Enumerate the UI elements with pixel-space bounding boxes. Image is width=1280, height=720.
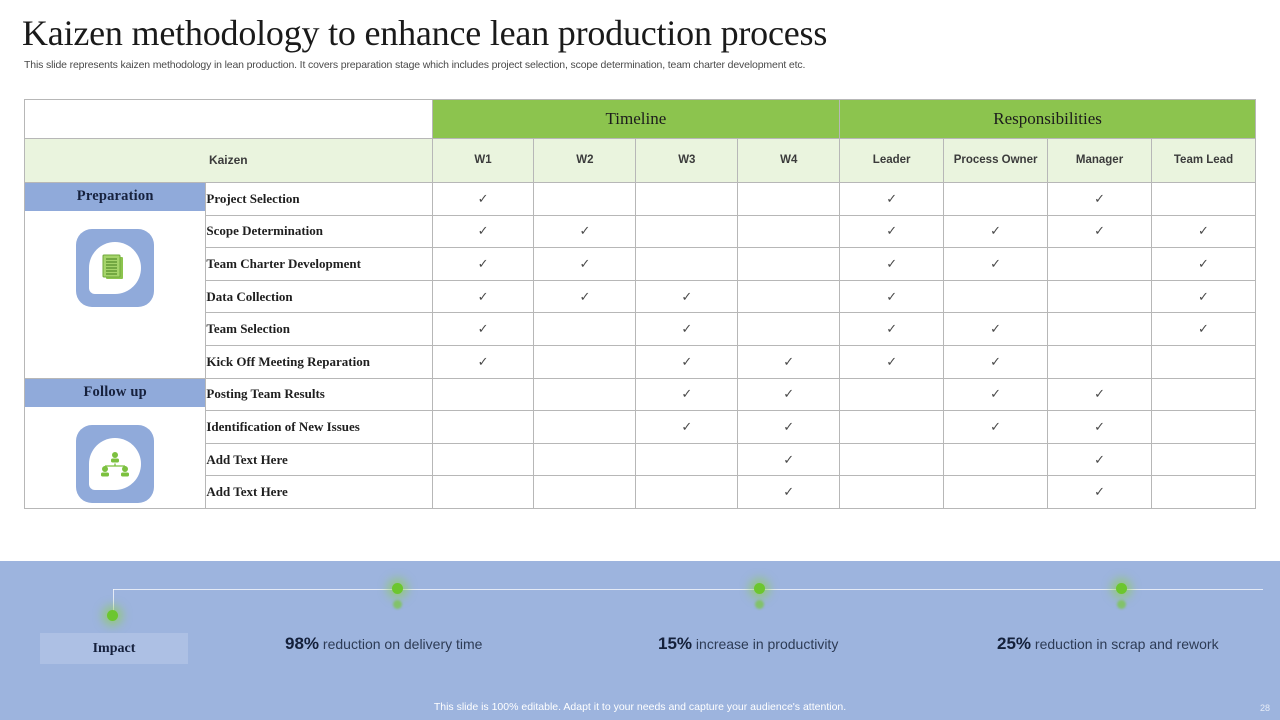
timeline-node-1 bbox=[392, 583, 403, 594]
check-icon: ✓ bbox=[783, 354, 794, 369]
check-icon: ✓ bbox=[886, 223, 897, 238]
column-header-row: Kaizen W1 W2 W3 W4 Leader Process Owner … bbox=[25, 139, 1256, 183]
timeline-node-1-tail bbox=[393, 600, 402, 609]
bubble-shape-1 bbox=[89, 438, 141, 490]
check-cell-marked[interactable]: ✓ bbox=[738, 476, 840, 509]
check-cell-marked[interactable]: ✓ bbox=[636, 411, 738, 444]
table-row: Add Text Here✓✓ bbox=[25, 443, 1256, 476]
check-cell-empty[interactable] bbox=[534, 411, 636, 444]
check-icon: ✓ bbox=[990, 223, 1001, 238]
task-label: Data Collection bbox=[206, 280, 432, 313]
table-body: PreparationProject Selection✓✓✓Scope Det… bbox=[25, 183, 1256, 509]
check-cell-marked[interactable]: ✓ bbox=[944, 378, 1048, 411]
check-cell-marked[interactable]: ✓ bbox=[1152, 248, 1256, 281]
check-cell-empty[interactable] bbox=[534, 378, 636, 411]
page-number: 28 bbox=[1260, 703, 1270, 713]
column-header-kaizen: Kaizen bbox=[25, 139, 433, 183]
check-cell-marked[interactable]: ✓ bbox=[738, 345, 840, 378]
check-cell-marked[interactable]: ✓ bbox=[944, 313, 1048, 346]
check-cell-empty[interactable] bbox=[636, 476, 738, 509]
stage-icon-slot-0 bbox=[25, 211, 205, 307]
timeline-node-impact bbox=[107, 610, 118, 621]
check-cell-marked[interactable]: ✓ bbox=[944, 411, 1048, 444]
column-header-process-owner: Process Owner bbox=[944, 139, 1048, 183]
check-cell-marked[interactable]: ✓ bbox=[534, 280, 636, 313]
check-cell-marked[interactable]: ✓ bbox=[1048, 378, 1152, 411]
task-label: Scope Determination bbox=[206, 215, 432, 248]
check-cell-marked[interactable]: ✓ bbox=[944, 248, 1048, 281]
check-cell-marked[interactable]: ✓ bbox=[1048, 443, 1152, 476]
check-icon: ✓ bbox=[681, 419, 692, 434]
check-cell-marked[interactable]: ✓ bbox=[1152, 313, 1256, 346]
check-cell-empty[interactable] bbox=[944, 280, 1048, 313]
check-cell-empty[interactable] bbox=[738, 248, 840, 281]
task-label: Project Selection bbox=[206, 183, 432, 216]
column-header-leader: Leader bbox=[840, 139, 944, 183]
check-cell-marked[interactable]: ✓ bbox=[1048, 476, 1152, 509]
check-cell-empty[interactable] bbox=[534, 313, 636, 346]
impact-label-badge: Impact bbox=[40, 633, 188, 664]
check-cell-marked[interactable]: ✓ bbox=[1048, 183, 1152, 216]
timeline-node-2 bbox=[754, 583, 765, 594]
column-header-w1: W1 bbox=[432, 139, 534, 183]
check-icon: ✓ bbox=[1198, 289, 1209, 304]
table-row: Identification of New Issues✓✓✓✓ bbox=[25, 411, 1256, 444]
check-icon: ✓ bbox=[886, 191, 897, 206]
impact-stat-2: 15% increase in productivity bbox=[658, 634, 838, 654]
check-icon: ✓ bbox=[990, 256, 1001, 271]
table-row: Data Collection✓✓✓✓✓ bbox=[25, 280, 1256, 313]
check-icon: ✓ bbox=[783, 452, 794, 467]
impact-stat-3-value: 25% bbox=[997, 634, 1031, 653]
check-cell-empty[interactable] bbox=[534, 345, 636, 378]
check-icon: ✓ bbox=[1094, 484, 1105, 499]
check-cell-marked[interactable]: ✓ bbox=[1048, 215, 1152, 248]
check-cell-empty[interactable] bbox=[944, 443, 1048, 476]
check-icon: ✓ bbox=[1094, 223, 1105, 238]
check-cell-marked[interactable]: ✓ bbox=[840, 248, 944, 281]
check-cell-marked[interactable]: ✓ bbox=[944, 345, 1048, 378]
check-cell-empty[interactable] bbox=[1152, 476, 1256, 509]
check-cell-empty[interactable] bbox=[1152, 443, 1256, 476]
check-icon: ✓ bbox=[886, 256, 897, 271]
stage-label-0: Preparation bbox=[25, 183, 205, 211]
check-cell-empty[interactable] bbox=[944, 476, 1048, 509]
slide-root: Kaizen methodology to enhance lean produ… bbox=[0, 0, 1280, 720]
check-cell-empty[interactable] bbox=[636, 248, 738, 281]
timeline-node-3-tail bbox=[1117, 600, 1126, 609]
check-icon: ✓ bbox=[478, 191, 489, 206]
check-cell-empty[interactable] bbox=[1152, 183, 1256, 216]
page-subtitle: This slide represents kaizen methodology… bbox=[24, 59, 805, 71]
task-label: Identification of New Issues bbox=[206, 411, 432, 444]
column-header-manager: Manager bbox=[1048, 139, 1152, 183]
column-header-w3: W3 bbox=[636, 139, 738, 183]
impact-stat-3: 25% reduction in scrap and rework bbox=[997, 634, 1219, 654]
check-cell-marked[interactable]: ✓ bbox=[636, 313, 738, 346]
check-cell-marked[interactable]: ✓ bbox=[840, 280, 944, 313]
check-cell-marked[interactable]: ✓ bbox=[432, 345, 534, 378]
group-header-row: Timeline Responsibilities bbox=[25, 100, 1256, 139]
check-icon: ✓ bbox=[1198, 223, 1209, 238]
check-icon: ✓ bbox=[886, 321, 897, 336]
check-cell-marked[interactable]: ✓ bbox=[840, 313, 944, 346]
task-label: Team Charter Development bbox=[206, 248, 432, 281]
footer-note: This slide is 100% editable. Adapt it to… bbox=[0, 701, 1280, 713]
table-row: PreparationProject Selection✓✓✓ bbox=[25, 183, 1256, 216]
check-icon: ✓ bbox=[478, 321, 489, 336]
check-cell-marked[interactable]: ✓ bbox=[432, 280, 534, 313]
check-cell-empty[interactable] bbox=[432, 378, 534, 411]
check-cell-empty[interactable] bbox=[534, 443, 636, 476]
task-label: Team Selection bbox=[206, 313, 432, 346]
check-cell-empty[interactable] bbox=[432, 443, 534, 476]
check-cell-marked[interactable]: ✓ bbox=[534, 215, 636, 248]
check-cell-marked[interactable]: ✓ bbox=[738, 378, 840, 411]
table-row: Team Charter Development✓✓✓✓✓ bbox=[25, 248, 1256, 281]
check-icon: ✓ bbox=[783, 386, 794, 401]
check-cell-marked[interactable]: ✓ bbox=[636, 378, 738, 411]
check-cell-empty[interactable] bbox=[1048, 313, 1152, 346]
check-icon: ✓ bbox=[783, 419, 794, 434]
check-cell-marked[interactable]: ✓ bbox=[738, 443, 840, 476]
check-cell-empty[interactable] bbox=[1152, 411, 1256, 444]
check-cell-empty[interactable] bbox=[840, 411, 944, 444]
check-cell-marked[interactable]: ✓ bbox=[1152, 215, 1256, 248]
group-header-timeline: Timeline bbox=[432, 100, 840, 139]
check-cell-marked[interactable]: ✓ bbox=[738, 411, 840, 444]
check-icon: ✓ bbox=[478, 223, 489, 238]
group-header-spacer bbox=[25, 100, 433, 139]
impact-stat-3-text: reduction in scrap and rework bbox=[1031, 636, 1219, 652]
check-cell-empty[interactable] bbox=[636, 215, 738, 248]
check-icon: ✓ bbox=[1094, 419, 1105, 434]
check-cell-empty[interactable] bbox=[1048, 345, 1152, 378]
impact-stat-1-text: reduction on delivery time bbox=[319, 636, 482, 652]
check-cell-empty[interactable] bbox=[1152, 378, 1256, 411]
check-cell-empty[interactable] bbox=[738, 280, 840, 313]
check-cell-marked[interactable]: ✓ bbox=[1048, 411, 1152, 444]
check-icon: ✓ bbox=[886, 289, 897, 304]
check-icon: ✓ bbox=[1094, 452, 1105, 467]
kaizen-table: Timeline Responsibilities Kaizen W1 W2 W… bbox=[24, 99, 1256, 509]
page-title: Kaizen methodology to enhance lean produ… bbox=[22, 12, 827, 54]
check-cell-marked[interactable]: ✓ bbox=[840, 345, 944, 378]
check-cell-marked[interactable]: ✓ bbox=[1152, 280, 1256, 313]
check-cell-marked[interactable]: ✓ bbox=[840, 215, 944, 248]
check-icon: ✓ bbox=[681, 386, 692, 401]
document-bubble-icon bbox=[76, 229, 154, 307]
check-icon: ✓ bbox=[681, 354, 692, 369]
team-hierarchy-bubble-icon bbox=[76, 425, 154, 503]
stage-cell-follow-up: Follow up bbox=[25, 378, 206, 508]
impact-stat-2-text: increase in productivity bbox=[692, 636, 838, 652]
check-cell-empty[interactable] bbox=[840, 476, 944, 509]
timeline-node-3 bbox=[1116, 583, 1127, 594]
bubble-shape-0 bbox=[89, 242, 141, 294]
task-label: Kick Off Meeting Reparation bbox=[206, 345, 432, 378]
check-icon: ✓ bbox=[886, 354, 897, 369]
task-label: Add Text Here bbox=[206, 476, 432, 509]
check-icon: ✓ bbox=[478, 354, 489, 369]
check-icon: ✓ bbox=[681, 321, 692, 336]
timeline-node-2-tail bbox=[755, 600, 764, 609]
check-icon: ✓ bbox=[1094, 386, 1105, 401]
check-cell-empty[interactable] bbox=[944, 183, 1048, 216]
table-row: Follow upPosting Team Results✓✓✓✓ bbox=[25, 378, 1256, 411]
check-cell-empty[interactable] bbox=[432, 476, 534, 509]
check-icon: ✓ bbox=[990, 354, 1001, 369]
check-cell-marked[interactable]: ✓ bbox=[432, 313, 534, 346]
check-cell-empty[interactable] bbox=[840, 378, 944, 411]
check-cell-marked[interactable]: ✓ bbox=[636, 345, 738, 378]
check-icon: ✓ bbox=[1198, 256, 1209, 271]
check-icon: ✓ bbox=[1198, 321, 1209, 336]
check-icon: ✓ bbox=[579, 223, 590, 238]
check-icon: ✓ bbox=[783, 484, 794, 499]
column-header-w2: W2 bbox=[534, 139, 636, 183]
task-label: Add Text Here bbox=[206, 443, 432, 476]
group-header-responsibilities: Responsibilities bbox=[840, 100, 1256, 139]
table-head: Timeline Responsibilities Kaizen W1 W2 W… bbox=[25, 100, 1256, 183]
check-cell-marked[interactable]: ✓ bbox=[840, 183, 944, 216]
check-cell-empty[interactable] bbox=[738, 183, 840, 216]
check-icon: ✓ bbox=[579, 289, 590, 304]
check-cell-marked[interactable]: ✓ bbox=[432, 215, 534, 248]
check-cell-empty[interactable] bbox=[534, 476, 636, 509]
check-icon: ✓ bbox=[579, 256, 590, 271]
check-cell-empty[interactable] bbox=[738, 215, 840, 248]
check-icon: ✓ bbox=[478, 289, 489, 304]
impact-stat-1-value: 98% bbox=[285, 634, 319, 653]
table-row: Add Text Here✓✓ bbox=[25, 476, 1256, 509]
task-label: Posting Team Results bbox=[206, 378, 432, 411]
stage-cell-preparation: Preparation bbox=[25, 183, 206, 379]
check-cell-empty[interactable] bbox=[432, 411, 534, 444]
kaizen-table-container: Timeline Responsibilities Kaizen W1 W2 W… bbox=[24, 99, 1256, 554]
check-cell-empty[interactable] bbox=[534, 183, 636, 216]
check-icon: ✓ bbox=[681, 289, 692, 304]
column-header-w4: W4 bbox=[738, 139, 840, 183]
check-icon: ✓ bbox=[990, 321, 1001, 336]
check-icon: ✓ bbox=[990, 419, 1001, 434]
check-cell-marked[interactable]: ✓ bbox=[432, 248, 534, 281]
table-row: Scope Determination✓✓✓✓✓✓ bbox=[25, 215, 1256, 248]
timeline-connector-line bbox=[113, 589, 1263, 590]
check-cell-marked[interactable]: ✓ bbox=[944, 215, 1048, 248]
impact-stat-2-value: 15% bbox=[658, 634, 692, 653]
check-cell-empty[interactable] bbox=[636, 183, 738, 216]
check-cell-empty[interactable] bbox=[1048, 248, 1152, 281]
table-row: Team Selection✓✓✓✓✓ bbox=[25, 313, 1256, 346]
check-cell-empty[interactable] bbox=[840, 443, 944, 476]
check-cell-empty[interactable] bbox=[1152, 345, 1256, 378]
column-header-team-lead: Team Lead bbox=[1152, 139, 1256, 183]
check-cell-marked[interactable]: ✓ bbox=[432, 183, 534, 216]
check-cell-empty[interactable] bbox=[636, 443, 738, 476]
stage-icon-slot-1 bbox=[25, 407, 205, 503]
check-cell-marked[interactable]: ✓ bbox=[534, 248, 636, 281]
table-row: Kick Off Meeting Reparation✓✓✓✓✓ bbox=[25, 345, 1256, 378]
check-cell-empty[interactable] bbox=[1048, 280, 1152, 313]
check-icon: ✓ bbox=[1094, 191, 1105, 206]
check-icon: ✓ bbox=[990, 386, 1001, 401]
check-cell-empty[interactable] bbox=[738, 313, 840, 346]
stage-label-1: Follow up bbox=[25, 379, 205, 407]
impact-stat-1: 98% reduction on delivery time bbox=[285, 634, 482, 654]
check-cell-marked[interactable]: ✓ bbox=[636, 280, 738, 313]
check-icon: ✓ bbox=[478, 256, 489, 271]
